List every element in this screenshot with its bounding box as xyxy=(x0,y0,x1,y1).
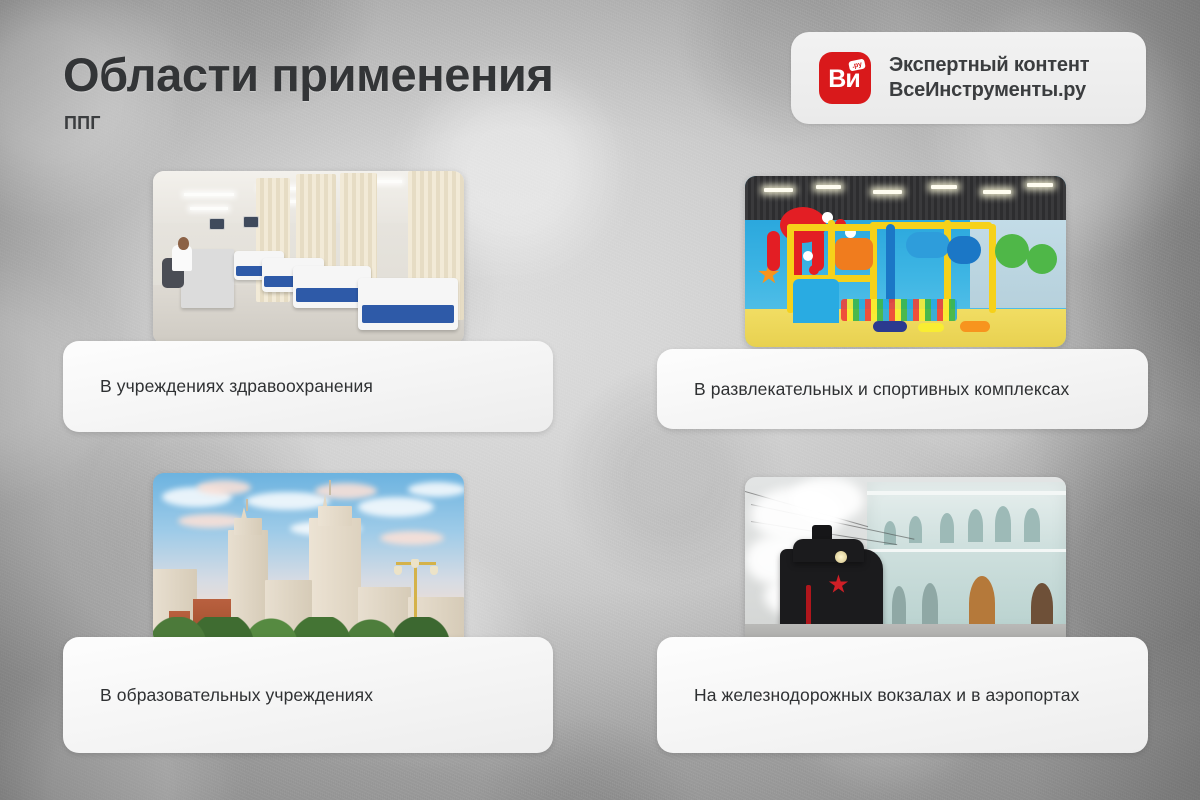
caption-text: В учреждениях здравоохранения xyxy=(63,373,399,400)
photo-transport-hubs xyxy=(745,477,1066,648)
brand-badge-line2: ВсеИнструменты.ру xyxy=(889,79,1089,102)
logo-mark-text: Ви xyxy=(828,67,859,92)
brand-badge: Ви .ру Экспертный контент ВсеИнструменты… xyxy=(791,32,1146,124)
slide-root: Области применения ППГ Ви .ру Экспертный… xyxy=(0,0,1200,800)
railway-station-illustration xyxy=(745,477,1066,648)
brand-badge-text: Экспертный контент ВсеИнструменты.ру xyxy=(889,54,1089,102)
indoor-playground-illustration xyxy=(745,176,1066,347)
brand-badge-line1: Экспертный контент xyxy=(889,54,1089,77)
page-subtitle: ППГ xyxy=(64,113,101,134)
caption-card-education[interactable]: В образовательных учреждениях xyxy=(63,637,553,753)
page-title: Области применения xyxy=(63,47,553,102)
caption-text: В развлекательных и спортивных комплекса… xyxy=(657,376,1095,403)
logo-superscript-text: .ру xyxy=(848,58,866,71)
university-building-illustration xyxy=(153,473,464,645)
caption-text: В образовательных учреждениях xyxy=(63,682,399,709)
caption-card-entertainment-sport[interactable]: В развлекательных и спортивных комплекса… xyxy=(657,349,1148,429)
caption-text: На железнодорожных вокзалах и в аэропорт… xyxy=(657,682,1105,709)
photo-education xyxy=(153,473,464,645)
caption-card-healthcare[interactable]: В учреждениях здравоохранения xyxy=(63,341,553,432)
caption-card-transport-hubs[interactable]: На железнодорожных вокзалах и в аэропорт… xyxy=(657,637,1148,753)
photo-entertainment-sport xyxy=(745,176,1066,347)
photo-healthcare xyxy=(153,171,464,344)
vseinstrumenty-logo-icon: Ви .ру xyxy=(819,52,871,104)
hospital-ward-illustration xyxy=(153,171,464,344)
